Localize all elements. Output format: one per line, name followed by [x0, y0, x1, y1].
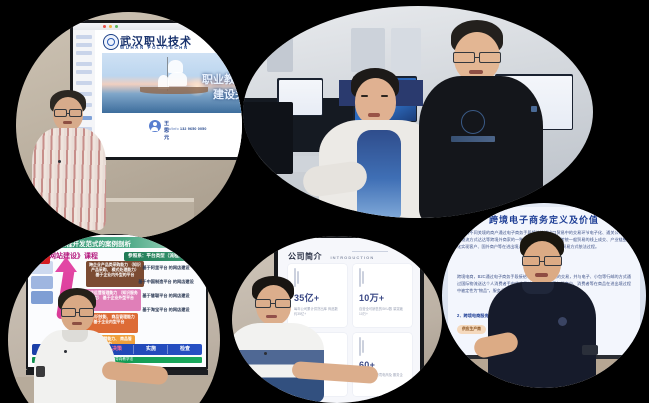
torso-black-tshirt: [419, 76, 543, 218]
tag-chip: 供应生产商: [457, 325, 486, 334]
photo-bottom-left: 系统化课程开发范式的案例剖析 《网站建设》课程 参照系：平台类型（流程） 跨企业…: [8, 234, 220, 403]
person-teacher-1: [28, 90, 120, 230]
red-tag: [30, 255, 50, 264]
browser-dot-red: [103, 25, 106, 28]
glasses-icon: [255, 299, 291, 308]
sleeve-badge: [36, 366, 45, 377]
tshirt-logo-text: [451, 136, 495, 142]
mouth: [368, 113, 380, 117]
lapel-mic-icon: [58, 160, 61, 163]
banner-headline-2: 建设关: [213, 86, 242, 102]
person-presenter-young: [232, 276, 372, 403]
slide-title: 跨境电子商务定义及价值: [448, 213, 640, 226]
chest-logo-icon: [558, 317, 567, 326]
banner-headline-1: 职业教育: [202, 71, 242, 87]
eye: [361, 95, 368, 97]
ship-hero-image: 职业教育 建设关: [102, 53, 242, 113]
sidebar-chip: [76, 70, 92, 74]
glasses-icon: [54, 109, 82, 117]
wall-panel: [351, 28, 385, 72]
sidebar-chip: [76, 35, 92, 39]
mouth: [469, 70, 483, 74]
lapel-mic-icon: [64, 350, 67, 353]
person-teacher-2: [32, 288, 152, 403]
header-rule: [352, 251, 388, 252]
mouth: [266, 315, 277, 318]
wall-panel: [267, 34, 293, 72]
collage-canvas: 武汉职业技术 WUHAN POLYTECHN 职业教育 建设关: [0, 0, 649, 403]
sidebar-chip: [76, 62, 92, 66]
sidebar-chip: [76, 43, 92, 47]
sidebar-chip: [76, 51, 92, 55]
presenter-meta-value: 132 9650 0050: [180, 127, 207, 131]
torso-striped-shirt: [32, 128, 106, 230]
photo-bottom-middle: 公司简介 INTRODUCTION 35亿+ 每年公司累计供货出库 商品数约35…: [232, 236, 442, 403]
slide-title-bar: 系统化课程开发范式的案例剖析: [34, 237, 200, 248]
browser-dot-amber: [109, 25, 112, 28]
platform-item: 基于中国制造平台 的网店建设: [129, 279, 203, 285]
glasses-icon: [522, 256, 562, 266]
sleeve-logo: [531, 106, 537, 112]
monitor-foreground: [243, 102, 293, 174]
right-header-bar: 参照系：平台类型（流程）: [124, 252, 202, 261]
mouth: [63, 121, 72, 124]
slide-title: 系统化课程开发范式的案例剖析: [40, 238, 131, 248]
eye: [381, 95, 388, 97]
classroom-scene-1: 武汉职业技术 WUHAN POLYTECHN 职业教育 建设关: [16, 12, 242, 238]
head: [355, 78, 396, 125]
company-slide-header: 公司简介 INTRODUCTION: [288, 246, 374, 264]
lapel-mic-icon: [264, 352, 267, 355]
handheld-clicker: [582, 345, 598, 355]
office-scene: [243, 6, 593, 218]
person-avatar-icon: [149, 120, 161, 132]
photo-top-left: 武汉职业技术 WUHAN POLYTECHN 职业教育 建设关: [16, 12, 242, 238]
ecommerce-lecture-scene: 跨境电子商务定义及价值 指分属不同关境的商户通过电子商务手段将传统进出口贸易中的…: [442, 203, 646, 388]
university-header: 武汉职业技术 WUHAN POLYTECHN: [101, 33, 242, 50]
collar: [522, 282, 554, 294]
browser-dot-green: [115, 25, 118, 28]
showroom-scene: 公司简介 INTRODUCTION 35亿+ 每年公司累计供货出库 商品数约35…: [232, 236, 442, 403]
university-name-en: WUHAN POLYTECHN: [120, 45, 189, 50]
mouth: [535, 273, 548, 277]
step-item: 检查: [168, 344, 202, 355]
university-seal-icon: [103, 34, 119, 50]
sidebar-chip: [76, 81, 92, 85]
photo-bottom-right: 跨境电子商务定义及价值 指分属不同关境的商户通过电子商务手段将传统进出口贸易中的…: [442, 203, 646, 388]
platform-item: 基于阿里平台 的网店建设: [129, 265, 203, 271]
classroom-scene-2: 系统化课程开发范式的案例剖析 《网站建设》课程 参照系：平台类型（流程） 跨企业…: [8, 234, 220, 403]
photo-top-right: [243, 6, 593, 218]
presenter-meta-label: Info/Info: [164, 127, 179, 131]
person-speaker: [490, 231, 610, 388]
glasses-icon: [453, 52, 501, 63]
company-title-en: INTRODUCTION: [330, 255, 374, 260]
person-standing: [417, 10, 567, 218]
glasses-icon: [61, 308, 94, 317]
tshirt-logo-ring-icon: [461, 110, 485, 134]
ship-hull: [140, 87, 208, 94]
presenter-meta: Info/Info 132 9650 0050: [164, 127, 207, 131]
right-header-label: 参照系：平台类型（流程）: [128, 253, 183, 259]
ship-sail: [168, 72, 187, 86]
mouth: [72, 322, 82, 325]
collar: [62, 330, 88, 342]
company-title-cn: 公司简介: [288, 252, 322, 261]
